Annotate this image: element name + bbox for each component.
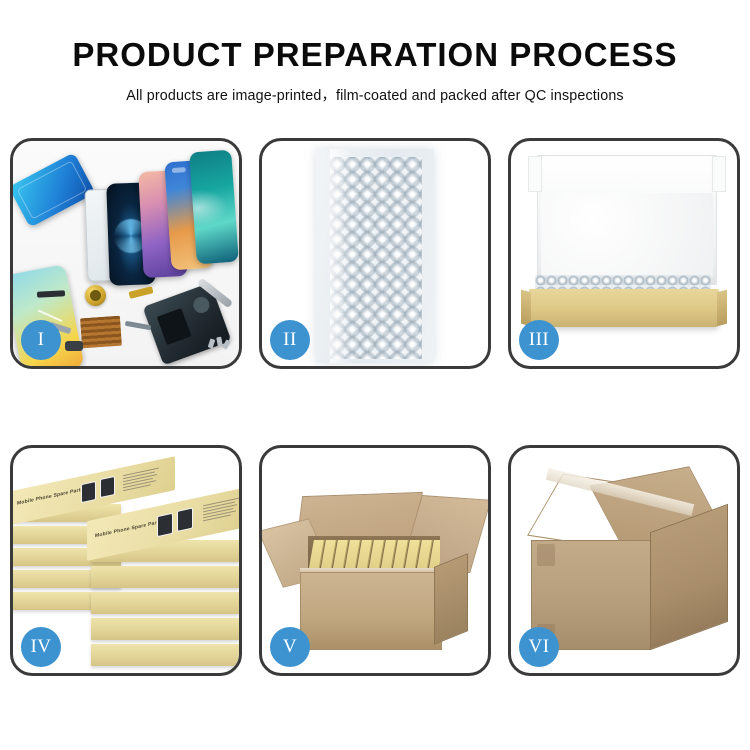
lid-phone-image-b: [100, 476, 115, 498]
copper-chip-grid-part: [80, 316, 122, 349]
stack-box-front-3: [91, 592, 239, 614]
stack-box-front-2: [91, 566, 239, 588]
page-header: PRODUCT PREPARATION PROCESS All products…: [0, 0, 750, 105]
process-step-panel-1: I: [10, 138, 242, 369]
stack-box-front-5: [91, 644, 239, 666]
step-badge-1: I: [21, 320, 61, 360]
carton-front-wall: [300, 572, 442, 650]
step-badge-2: II: [270, 320, 310, 360]
lid-phone-image-a: [81, 481, 96, 503]
plastic-sheen: [330, 149, 352, 363]
process-step-panel-2: II: [259, 138, 491, 369]
carton-side-wall: [434, 553, 468, 645]
carton-tab-upper: [537, 544, 555, 566]
gold-coil-part: [85, 285, 106, 306]
page-subtitle: All products are image-printed，film-coat…: [0, 84, 750, 105]
process-step-panel-5: V: [259, 445, 491, 676]
lid-phone-image-c: [157, 513, 173, 537]
process-step-panel-4: Mobile Phone Spare Parts M: [10, 445, 242, 676]
process-panel-grid: I II III: [10, 138, 740, 676]
kraft-box-tray: [529, 289, 719, 327]
small-component-part: [65, 341, 83, 351]
white-foam-insert: [541, 193, 713, 277]
lid-phone-image-d: [177, 507, 193, 531]
phone-screen-teal: [189, 150, 239, 265]
step-badge-6: VI: [519, 627, 559, 667]
step-badge-3: III: [519, 320, 559, 360]
step-badge-4: IV: [21, 627, 61, 667]
step-badge-5: V: [270, 627, 310, 667]
screws-group: [209, 337, 231, 349]
page-title: PRODUCT PREPARATION PROCESS: [0, 38, 750, 71]
process-step-panel-6: VI: [508, 445, 740, 676]
bubble-wrap-sheet: [316, 149, 434, 363]
process-step-panel-3: III: [508, 138, 740, 369]
stack-box-front-4: [91, 618, 239, 640]
